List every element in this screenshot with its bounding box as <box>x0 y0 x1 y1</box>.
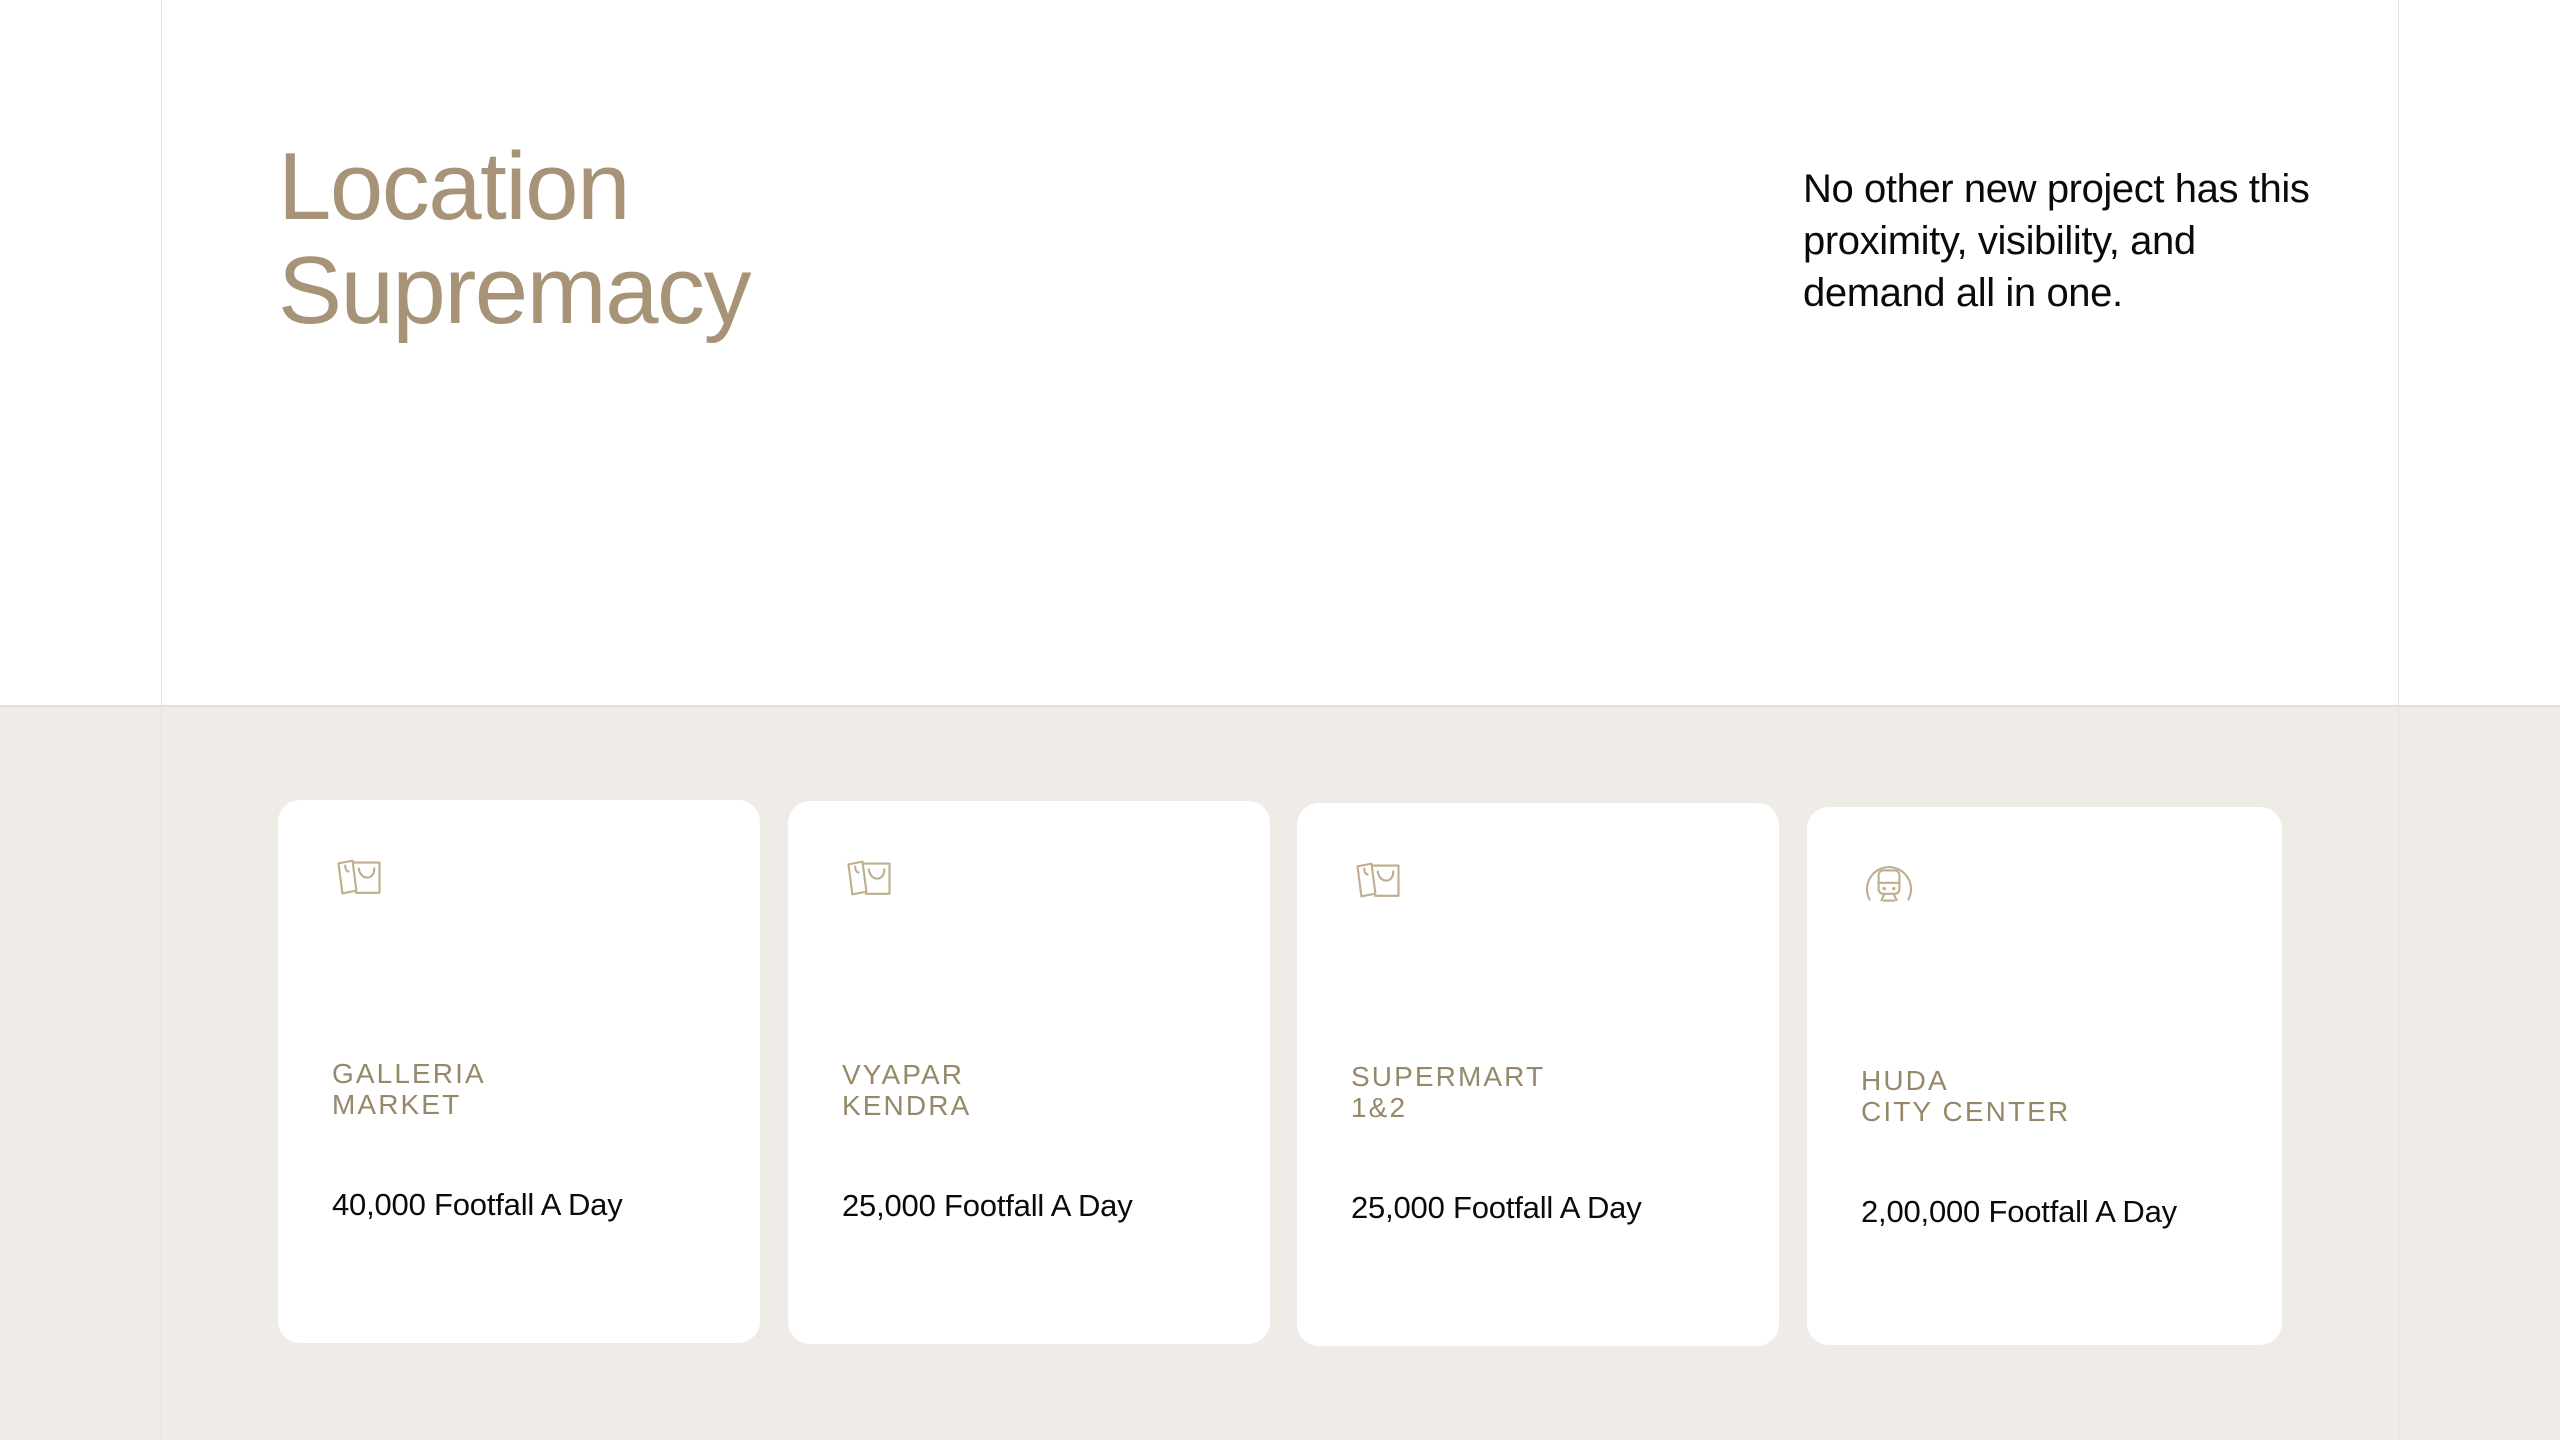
hero-section: Location Supremacy No other new project … <box>0 0 2560 705</box>
shopping-bags-icon <box>1351 853 1407 909</box>
landmark-name: GALLERIA MARKET <box>332 1058 732 1121</box>
page-title: Location Supremacy <box>278 135 750 342</box>
landmark-card[interactable]: VYAPAR KENDRA 25,000 Footfall A Day <box>788 801 1270 1344</box>
location-supremacy-section: Location Supremacy No other new project … <box>0 0 2560 1440</box>
metro-station-icon <box>1861 855 1917 911</box>
landmark-footfall: 25,000 Footfall A Day <box>842 1186 1232 1227</box>
landmark-card[interactable]: GALLERIA MARKET 40,000 Footfall A Day <box>278 800 760 1343</box>
landmark-footfall: 40,000 Footfall A Day <box>332 1185 722 1226</box>
landmark-name: SUPERMART 1&2 <box>1351 1061 1751 1124</box>
landmark-card[interactable]: SUPERMART 1&2 25,000 Footfall A Day <box>1297 803 1779 1346</box>
landmark-name: HUDA CITY CENTER <box>1861 1065 2261 1128</box>
shopping-bags-icon <box>332 850 388 906</box>
shopping-bags-icon <box>842 851 898 907</box>
landmark-footfall: 25,000 Footfall A Day <box>1351 1188 1741 1229</box>
landmark-name: VYAPAR KENDRA <box>842 1059 1242 1122</box>
hero-description: No other new project has this proximity,… <box>1803 163 2323 319</box>
landmark-card[interactable]: HUDA CITY CENTER 2,00,000 Footfall A Day <box>1807 807 2282 1345</box>
landmark-footfall: 2,00,000 Footfall A Day <box>1861 1192 2251 1233</box>
